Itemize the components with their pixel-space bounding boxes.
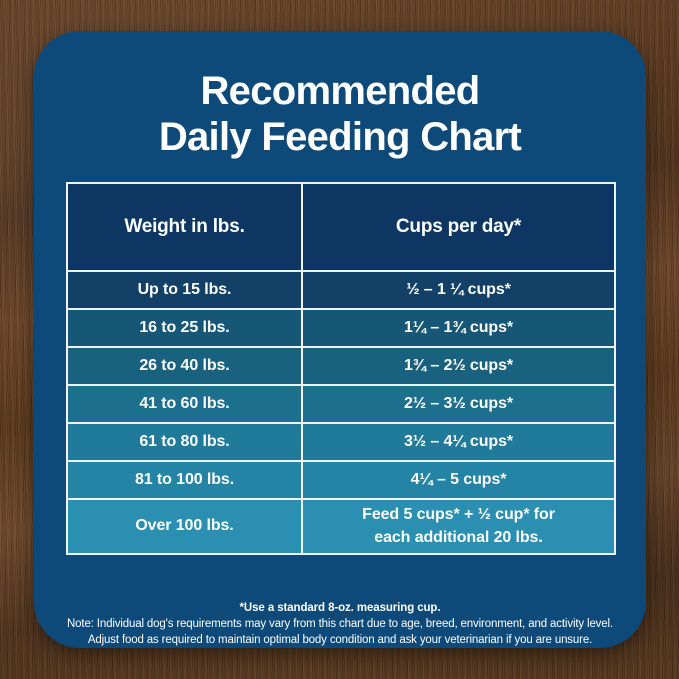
cell-cups: 1¼ – 1¾ cups* <box>302 309 615 347</box>
cell-weight: Over 100 lbs. <box>67 499 302 554</box>
cell-weight: 61 to 80 lbs. <box>67 423 302 461</box>
table-row: 26 to 40 lbs. 1¾ – 2½ cups* <box>67 347 615 385</box>
table-row: 16 to 25 lbs. 1¼ – 1¾ cups* <box>67 309 615 347</box>
cell-cups: ½ – 1 ¼ cups* <box>302 271 615 309</box>
cell-weight: Up to 15 lbs. <box>67 271 302 309</box>
page-title: Recommended Daily Feeding Chart <box>34 31 646 160</box>
cell-weight: 81 to 100 lbs. <box>67 461 302 499</box>
footnotes: *Use a standard 8-oz. measuring cup. Not… <box>34 602 646 648</box>
cell-cups: 3½ – 4¼ cups* <box>302 423 615 461</box>
table-header-row: Weight in lbs. Cups per day* <box>67 183 615 271</box>
cell-cups: 2½ – 3½ cups* <box>302 385 615 423</box>
table-row: Up to 15 lbs. ½ – 1 ¼ cups* <box>67 271 615 309</box>
footnote-disclaimer: Note: Individual dog's requirements may … <box>34 616 646 648</box>
table-row: 61 to 80 lbs. 3½ – 4¼ cups* <box>67 423 615 461</box>
page-title-line-2: Daily Feeding Chart <box>60 115 620 161</box>
cell-weight: 16 to 25 lbs. <box>67 309 302 347</box>
feeding-table: Weight in lbs. Cups per day* Up to 15 lb… <box>66 182 616 555</box>
table-row: 41 to 60 lbs. 2½ – 3½ cups* <box>67 385 615 423</box>
cell-cups-line-1: Feed 5 cups* + ½ cup* for <box>303 504 614 527</box>
footnote-disclaimer-line-1: Note: Individual dog's requirements may … <box>34 616 646 632</box>
cell-cups: Feed 5 cups* + ½ cup* for each additiona… <box>302 499 615 554</box>
footnote-disclaimer-line-2: Adjust food as required to maintain opti… <box>34 632 646 648</box>
table-row: 81 to 100 lbs. 4¼ – 5 cups* <box>67 461 615 499</box>
cell-cups: 1¾ – 2½ cups* <box>302 347 615 385</box>
cell-weight: 41 to 60 lbs. <box>67 385 302 423</box>
cell-weight: 26 to 40 lbs. <box>67 347 302 385</box>
footnote-measuring-cup: *Use a standard 8-oz. measuring cup. <box>34 602 646 614</box>
page-title-line-1: Recommended <box>60 69 620 115</box>
feeding-chart-card: Recommended Daily Feeding Chart Weight i… <box>34 31 646 648</box>
table-row: Over 100 lbs. Feed 5 cups* + ½ cup* for … <box>67 499 615 554</box>
cell-cups-line-2: each additional 20 lbs. <box>303 527 614 550</box>
column-header-cups: Cups per day* <box>302 183 615 271</box>
column-header-weight: Weight in lbs. <box>67 183 302 271</box>
cell-cups: 4¼ – 5 cups* <box>302 461 615 499</box>
